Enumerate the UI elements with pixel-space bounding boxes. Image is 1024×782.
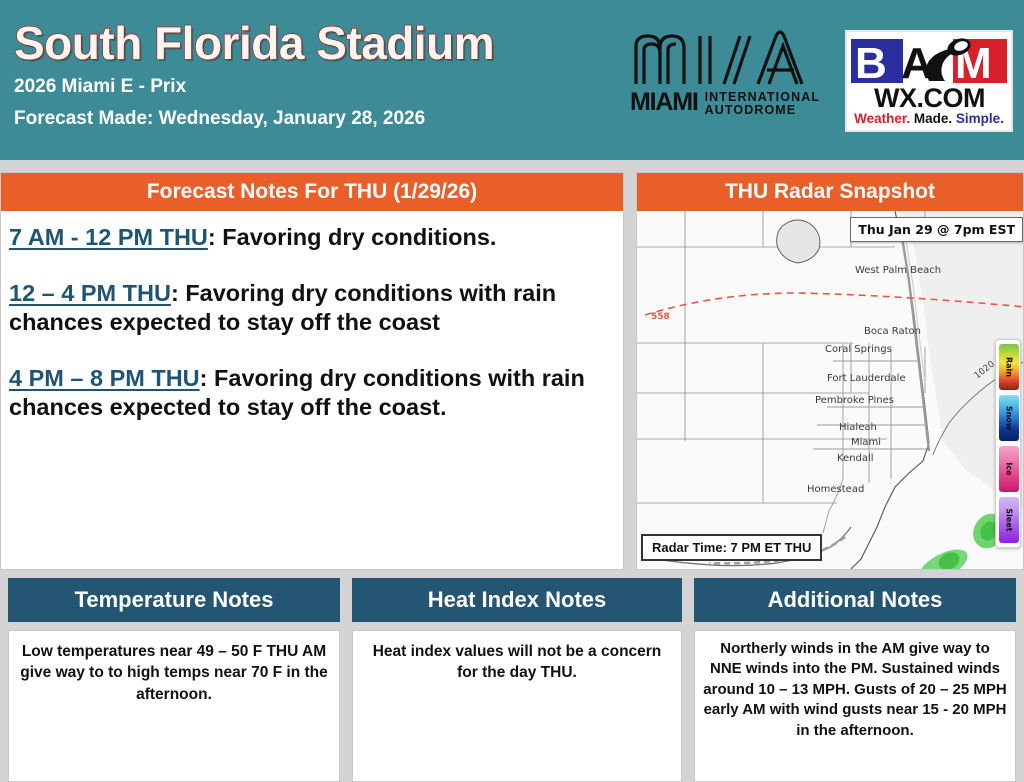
header-banner: South Florida Stadium 2026 Miami E - Pri… — [0, 0, 1024, 160]
note-time-range: 7 AM - 12 PM THU — [9, 224, 208, 250]
city-label-pembroke-pines: Pembroke Pines — [815, 395, 894, 406]
forecast-notes-heading: Forecast Notes For THU (1/29/26) — [1, 173, 623, 211]
heat-index-notes-panel: Heat Index Notes Heat index values will … — [352, 578, 682, 782]
additional-notes-panel: Additional Notes Northerly winds in the … — [694, 578, 1016, 782]
tagline-weather: Weather. — [854, 111, 910, 126]
heat-index-notes-body: Heat index values will not be a concern … — [352, 630, 682, 782]
bam-tagline: Weather. Made. Simple. — [847, 112, 1011, 126]
forecast-note-item: 4 PM – 8 PM THU: Favoring dry conditions… — [9, 364, 613, 423]
legend-label-rain: Rain — [1005, 357, 1014, 377]
forecast-graphic: South Florida Stadium 2026 Miami E - Pri… — [0, 0, 1024, 782]
legend-bar-rain: Rain — [999, 344, 1019, 390]
svg-text:B: B — [855, 39, 887, 87]
temperature-notes-heading: Temperature Notes — [8, 578, 340, 622]
radar-panel: THU Radar Snapshot — [636, 172, 1024, 570]
city-label-miami: Miami — [851, 437, 881, 448]
mia-mark-icon — [628, 28, 828, 90]
note-time-range: 4 PM – 8 PM THU — [9, 365, 200, 391]
forecast-made-date: Forecast Made: Wednesday, January 28, 20… — [14, 108, 425, 130]
city-label-fort-lauderdale: Fort Lauderdale — [827, 373, 906, 384]
miami-international-autodrome-logo: MIAMI INTERNATIONAL AUTODROME — [628, 28, 828, 128]
mia-line-international: INTERNATIONAL — [705, 91, 820, 104]
event-subtitle: 2026 Miami E - Prix — [14, 76, 186, 98]
bamwx-logo: B A M WX.COM Weather. Made. Simple. — [845, 30, 1013, 132]
temperature-notes-body: Low temperatures near 49 – 50 F THU AM g… — [8, 630, 340, 782]
legend-label-ice: Ice — [1005, 462, 1014, 475]
bam-domain-text: WX.COM — [852, 85, 1007, 112]
bam-letters-icon: B A M — [851, 35, 1007, 87]
mia-miami-word: MIAMI — [630, 88, 698, 117]
radar-heading: THU Radar Snapshot — [637, 173, 1023, 211]
forecast-notes-panel: Forecast Notes For THU (1/29/26) 7 AM - … — [0, 172, 624, 570]
city-label-kendall: Kendall — [837, 453, 874, 464]
mia-subtitle: INTERNATIONAL AUTODROME — [705, 88, 820, 118]
additional-notes-body: Northerly winds in the AM give way to NN… — [694, 630, 1016, 782]
radar-timestamp-badge: Thu Jan 29 @ 7pm EST — [850, 217, 1023, 242]
note-text: Favoring dry conditions. — [222, 224, 496, 250]
radar-map[interactable]: 558 1020 West Palm Beach Boca Raton Cora… — [637, 211, 1024, 570]
legend-label-sleet: Sleet — [1005, 508, 1014, 531]
forecast-note-item: 7 AM - 12 PM THU: Favoring dry condition… — [9, 223, 613, 253]
heat-index-notes-heading: Heat Index Notes — [352, 578, 682, 622]
mia-line-autodrome: AUTODROME — [705, 104, 820, 117]
city-label-hialeah: Hialeah — [839, 422, 877, 433]
legend-bar-ice: Ice — [999, 446, 1019, 492]
note-time-range: 12 – 4 PM THU — [9, 280, 171, 306]
radar-map-graphic: 558 1020 — [637, 211, 1024, 570]
page-title: South Florida Stadium — [14, 16, 494, 70]
tagline-simple: Simple. — [952, 111, 1004, 126]
legend-bar-sleet: Sleet — [999, 497, 1019, 543]
temperature-notes-panel: Temperature Notes Low temperatures near … — [8, 578, 340, 782]
city-label-boca-raton: Boca Raton — [864, 326, 921, 337]
contour-label-558: 558 — [651, 312, 670, 322]
additional-notes-heading: Additional Notes — [694, 578, 1016, 622]
forecast-note-item: 12 – 4 PM THU: Favoring dry conditions w… — [9, 279, 613, 338]
city-label-homestead: Homestead — [807, 484, 864, 495]
tagline-made: Made. — [910, 111, 952, 126]
legend-bar-snow: Snow — [999, 395, 1019, 441]
radar-legend: Rain Snow Ice Sleet — [995, 339, 1021, 548]
city-label-west-palm-beach: West Palm Beach — [855, 265, 941, 276]
forecast-notes-body: 7 AM - 12 PM THU: Favoring dry condition… — [1, 211, 623, 423]
mia-wordmark: MIAMI INTERNATIONAL AUTODROME — [630, 88, 828, 122]
legend-label-snow: Snow — [1005, 406, 1014, 430]
city-label-coral-springs: Coral Springs — [825, 344, 892, 355]
radar-time-label: Radar Time: 7 PM ET THU — [641, 534, 822, 561]
